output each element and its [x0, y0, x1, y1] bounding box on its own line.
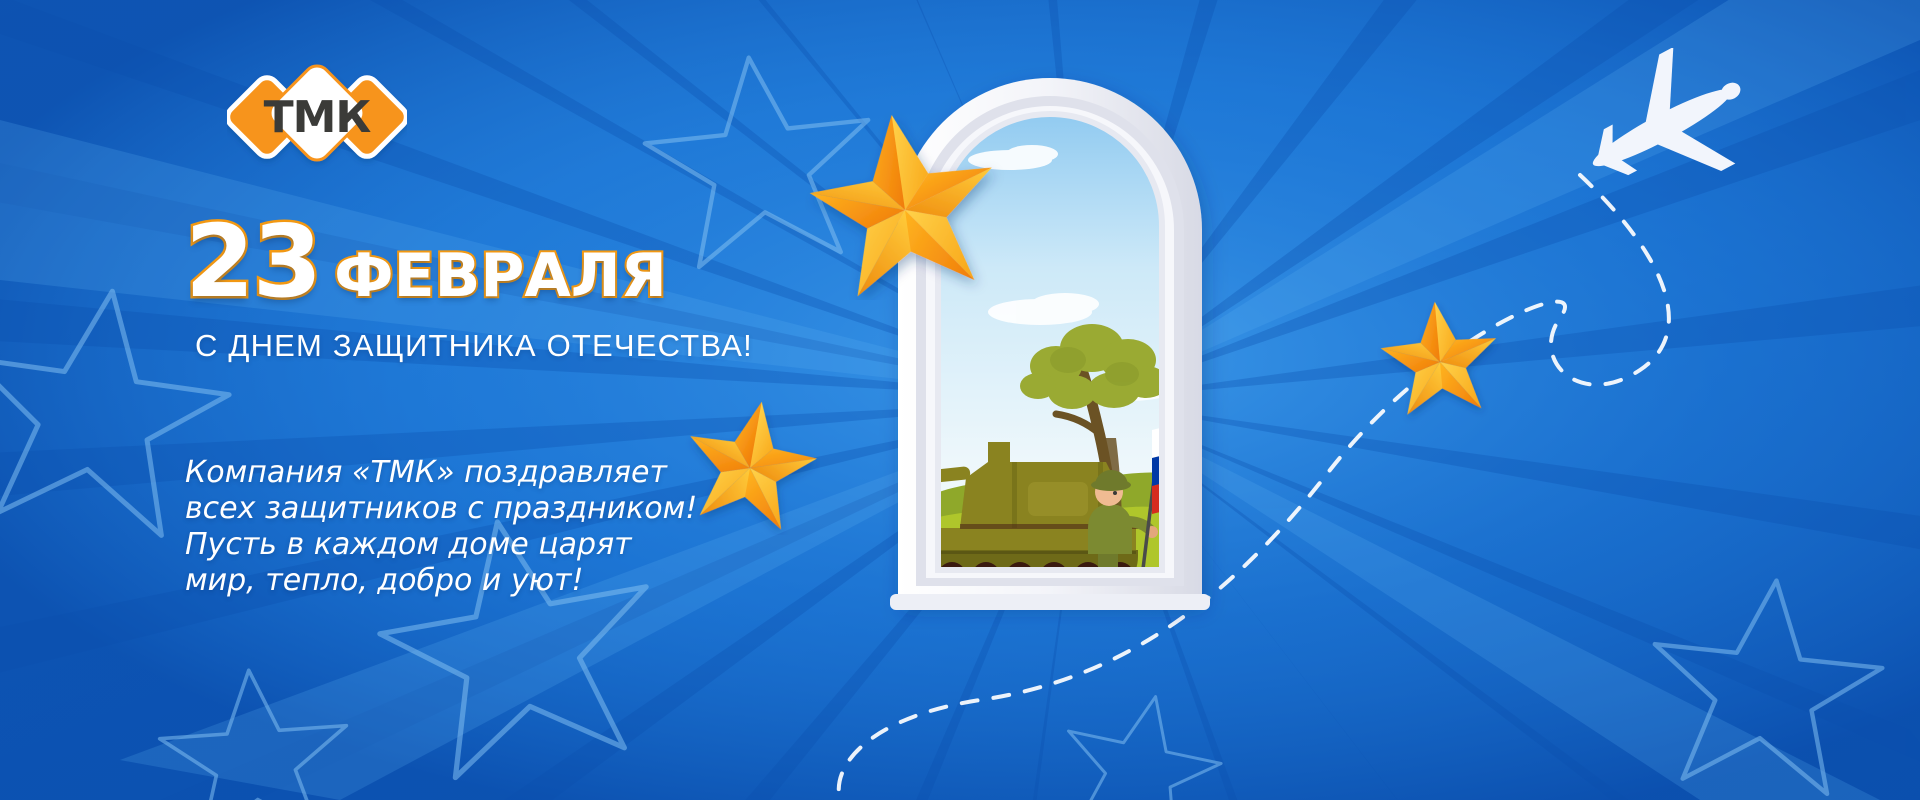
holiday-banner: ТМК 23 ФЕВРАЛЯ С ДНЕМ ЗАЩИТНИКА ОТЕЧЕСТВ… [0, 0, 1920, 800]
airplane-icon [1545, 48, 1755, 228]
window-sill [890, 594, 1210, 610]
gold-star-medium [680, 400, 820, 540]
gold-star-small [1375, 300, 1505, 430]
gold-star-large [805, 110, 1005, 305]
